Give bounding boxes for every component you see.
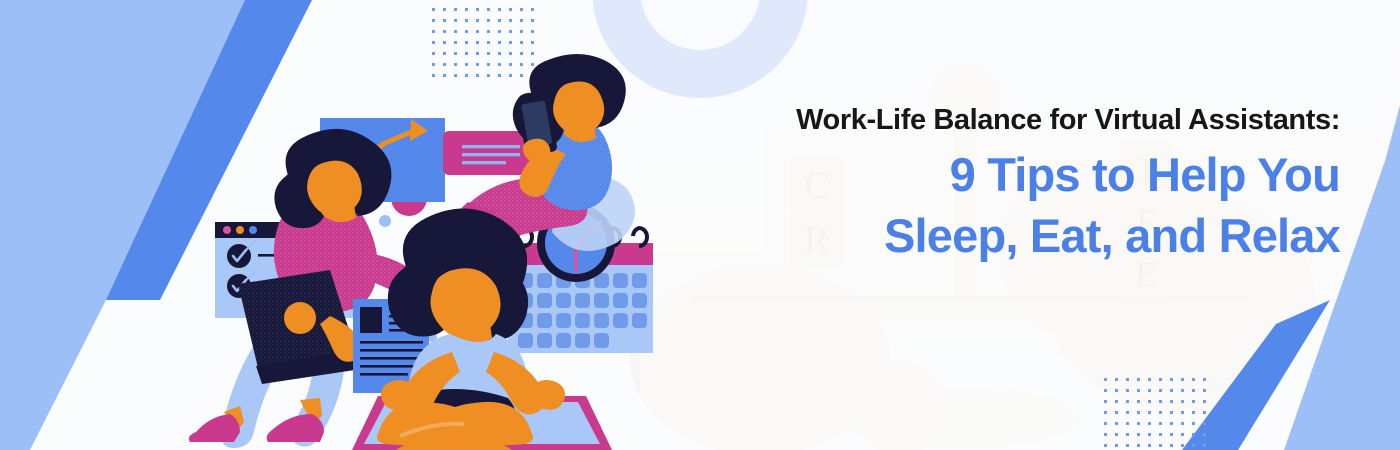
banner-root: R C E F I (0, 0, 1400, 450)
headline-line-2: Sleep, Eat, and Relax (690, 206, 1340, 266)
browser-dot-red (223, 226, 231, 234)
document-image-block (360, 307, 382, 333)
blue-dot-1 (379, 215, 391, 227)
headline-line-1: 9 Tips to Help You (690, 145, 1340, 205)
shoe-right (267, 398, 324, 442)
browser-dot-blue (249, 226, 257, 234)
eyebrow-heading: Work-Life Balance for Virtual Assistants… (690, 104, 1340, 137)
laptop-logo (284, 302, 316, 334)
headline-block: Work-Life Balance for Virtual Assistants… (690, 104, 1340, 266)
browser-dot-orange (236, 226, 244, 234)
shoe-left (189, 406, 244, 442)
